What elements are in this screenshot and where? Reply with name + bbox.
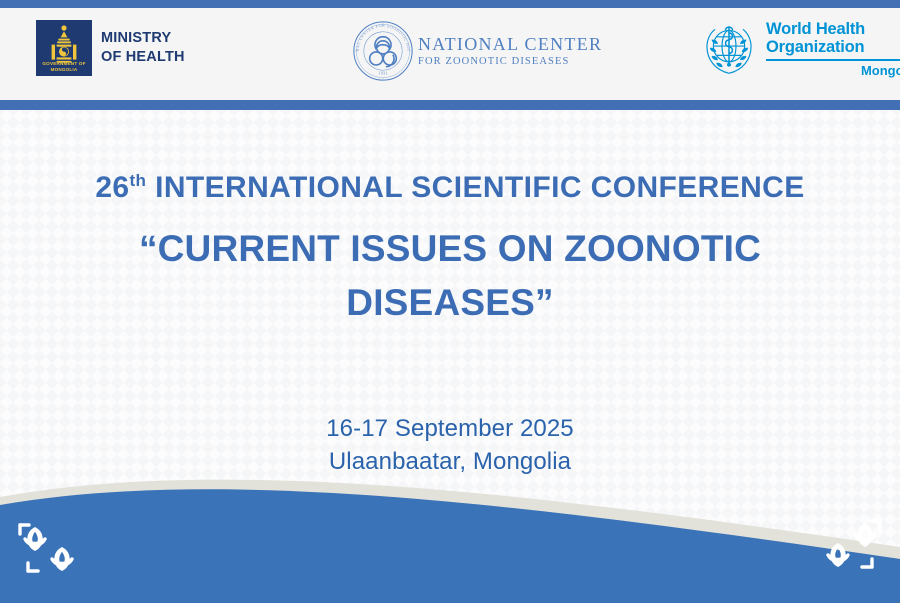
conference-heading: 26th INTERNATIONAL SCIENTIFIC CONFERENCE — [0, 168, 900, 208]
national-center-name-line1: NATIONAL CENTER — [418, 34, 602, 55]
seal-year: 1931 — [379, 71, 388, 76]
conference-theme: “CURRENT ISSUES ON ZOONOTIC DISEASES” — [0, 222, 900, 330]
header-divider-bar — [0, 100, 900, 110]
conference-theme-line2: DISEASES” — [60, 276, 840, 330]
who-emblem-icon — [700, 20, 758, 78]
crest-caption-line2: MONGOLIA — [36, 67, 92, 73]
conference-ordinal-suffix: th — [130, 171, 147, 190]
title-block: 26th INTERNATIONAL SCIENTIFIC CONFERENCE… — [0, 168, 900, 330]
who-country-label: Mongolia — [766, 63, 900, 78]
who-divider-line — [766, 59, 900, 61]
event-dates: 16-17 September 2025 — [0, 412, 900, 445]
mongolian-ulzii-knot-icon — [14, 519, 86, 581]
ministry-name-line2: OF HEALTH — [101, 48, 185, 67]
conference-theme-line1: “CURRENT ISSUES ON ZOONOTIC — [60, 222, 840, 276]
soyombo-symbol-icon — [49, 24, 79, 64]
ministry-of-health-logo: GOVERNMENT OF MONGOLIA MINISTRY OF HEALT… — [36, 20, 185, 76]
bottom-wave-decoration — [0, 463, 900, 603]
crest-caption: GOVERNMENT OF MONGOLIA — [36, 61, 92, 73]
who-wordmark: World Health Organization Mongolia — [766, 20, 900, 78]
ministry-name-line1: MINISTRY — [101, 29, 185, 48]
who-logo: World Health Organization Mongolia — [700, 20, 900, 78]
conference-ordinal-number: 26 — [95, 171, 129, 204]
national-center-name: NATIONAL CENTER FOR ZOONOTIC DISEASES — [418, 34, 602, 69]
national-center-logo: 1931 NATIONAL CENTER FOR ZOONOTIC DISEAS… — [352, 20, 602, 82]
zoonotic-biohazard-seal-icon: 1931 NATIONAL CENTER FOR ZOONOTIC DISEAS… — [352, 20, 414, 82]
mongolian-ulzii-knot-icon — [814, 515, 886, 577]
who-name-line1: World Health — [766, 20, 900, 38]
ministry-name: MINISTRY OF HEALTH — [101, 29, 185, 67]
conference-heading-text: INTERNATIONAL SCIENTIFIC CONFERENCE — [146, 171, 804, 204]
wave-blue — [0, 489, 900, 603]
who-name-line2: Organization — [766, 38, 900, 56]
conference-title-slide: GOVERNMENT OF MONGOLIA MINISTRY OF HEALT… — [0, 0, 900, 603]
top-accent-bar — [0, 0, 900, 8]
mongolia-state-emblem-icon: GOVERNMENT OF MONGOLIA — [36, 20, 92, 76]
national-center-name-line2: FOR ZOONOTIC DISEASES — [418, 55, 602, 69]
